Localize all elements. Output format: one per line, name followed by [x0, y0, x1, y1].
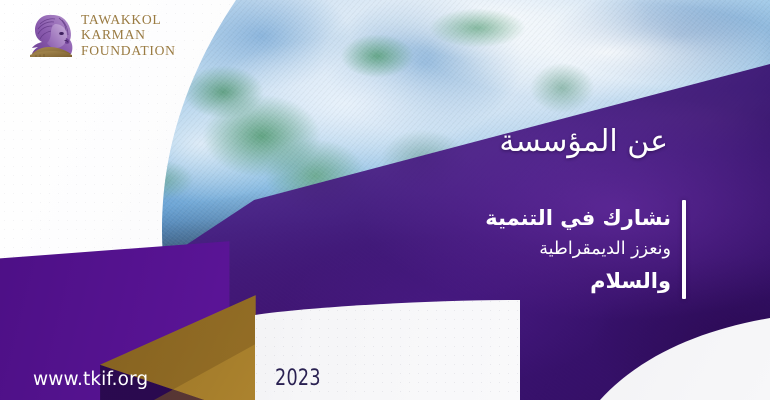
website-url[interactable]: www.tkif.org: [33, 369, 148, 390]
tagline-line-2: ونعزز الديمقراطية: [485, 234, 671, 265]
accent-bar: [682, 200, 686, 299]
banner-canvas: TAWAKKOL KARMAN FOUNDATION عن المؤسسة نش…: [0, 0, 770, 400]
brand-name-line-3: FOUNDATION: [81, 43, 176, 59]
tagline-line-1: نشارك في التنمية: [485, 202, 671, 234]
page-title-text: عن المؤسسة: [499, 125, 668, 159]
brand-name-line-1: TAWAKKOL: [81, 12, 176, 28]
year-label: 2023: [275, 366, 321, 391]
brand-logo[interactable]: TAWAKKOL KARMAN FOUNDATION: [28, 10, 176, 60]
brand-name-line-2: KARMAN: [81, 27, 176, 43]
lion-head-icon: [28, 10, 74, 60]
tagline-line-3: والسلام: [485, 265, 671, 297]
tagline-block: نشارك في التنمية ونعزز الديمقراطية والسل…: [485, 200, 686, 299]
brand-wordmark: TAWAKKOL KARMAN FOUNDATION: [81, 12, 176, 59]
tagline-lines: نشارك في التنمية ونعزز الديمقراطية والسل…: [485, 200, 671, 299]
page-title: عن المؤسسة: [499, 125, 668, 159]
